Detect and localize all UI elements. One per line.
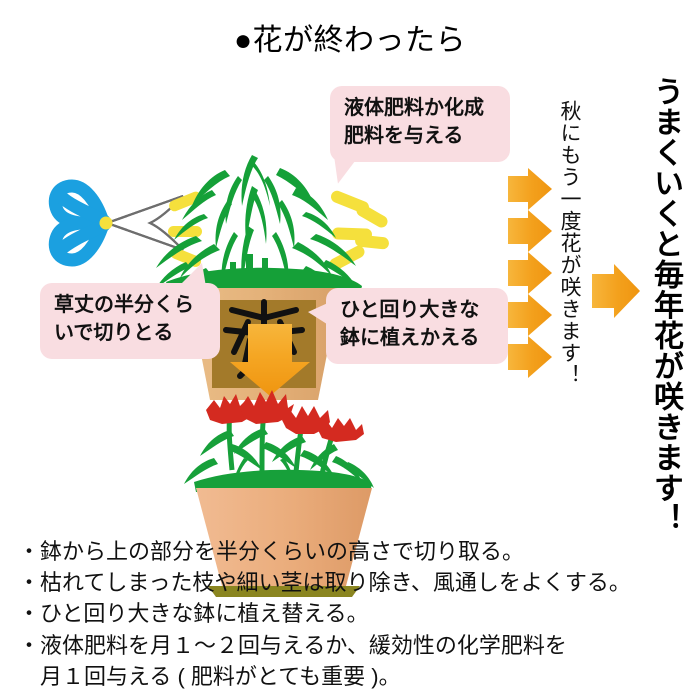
bullet-item: ・枯れてしまった枝や細い茎は取り除き、風通しをよくする。 [18,567,688,598]
bullet-item: ・鉢から上の部分を半分くらいの高さで切り取る。 [18,536,688,567]
speech-bubble-cut: 草丈の半分くら いで切りとる [40,283,220,359]
bubble-tail-icon [334,154,363,183]
vertical-text-yearly: うまくいくと毎年花が咲きます！ [635,76,681,534]
bubble-tail-icon [178,263,206,287]
bubble-repot-line1: ひと回り大きな [340,297,496,325]
infographic-canvas: ●花が終わったら 液体肥料か化成 肥料を与える 草丈の半分くら いで切りとる ひ… [0,0,700,700]
bubble-repot-line2: 鉢に植えかえる [340,325,496,353]
page-title: ●花が終わったら [0,24,700,57]
bullet-list: ・鉢から上の部分を半分くらいの高さで切り取る。 ・枯れてしまった枝や細い茎は取り… [18,536,688,692]
bullet-item: ・液体肥料を月１〜２回与えるか、緩効性の化学肥料を [18,630,688,661]
bubble-tail-icon [308,302,330,326]
scissors-icon [55,186,183,260]
bullet-item: ・ひと回り大きな鉢に植え替える。 [18,598,688,629]
bubble-fertilizer-line1: 液体肥料か化成 [344,95,498,123]
bubble-fertilizer-line2: 肥料を与える [344,123,498,151]
final-right-arrow [592,264,640,318]
bullet-item-continuation: 月１回与える ( 肥料がとても重要 )。 [18,661,688,692]
bubble-cut-line1: 草丈の半分くら [54,292,208,320]
stacked-right-arrows [508,168,552,378]
speech-bubble-repot: ひと回り大きな 鉢に植えかえる [326,288,508,364]
bubble-cut-line2: いで切りとる [54,320,208,348]
vertical-text-autumn: 秋にもう一度花が咲きます！ [547,100,581,386]
speech-bubble-fertilizer: 液体肥料か化成 肥料を与える [330,86,510,162]
